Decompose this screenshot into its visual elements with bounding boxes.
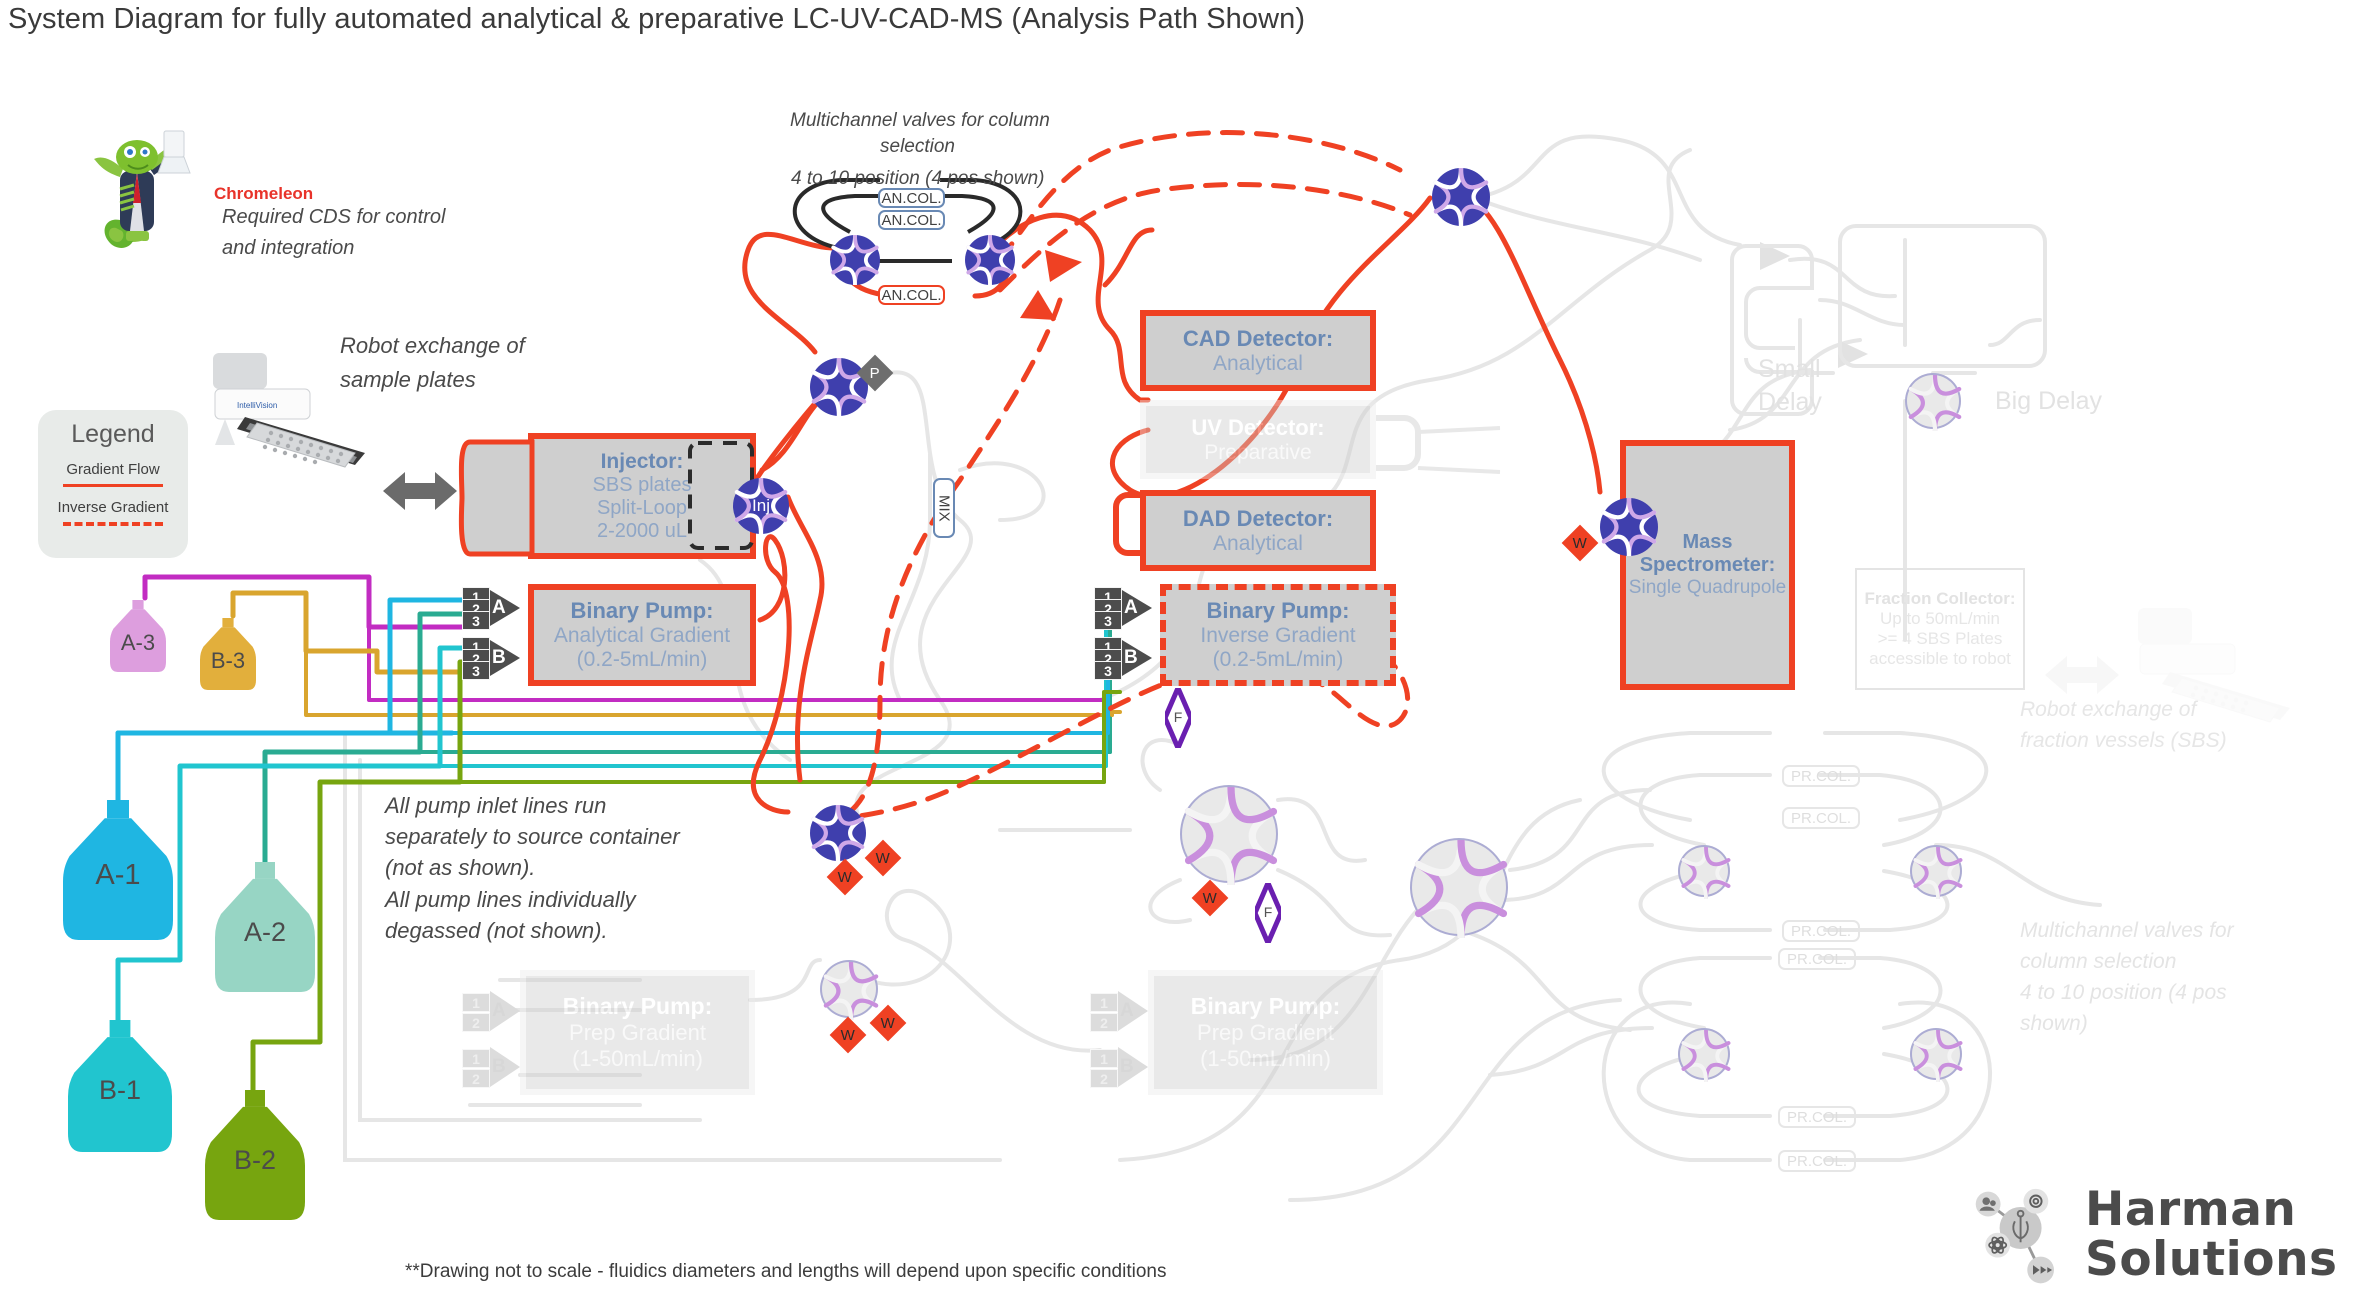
solvent-bottle-a-1: A-1 <box>63 800 173 940</box>
valve-ms-divert[interactable] <box>1432 168 1490 226</box>
small-delay-label-1: Small <box>1758 355 1821 384</box>
unit-fc-line2: >= 4 SBS Plates <box>1878 629 2003 649</box>
tag-label: P <box>870 364 880 381</box>
solvent-bottle-label: A-2 <box>215 917 315 948</box>
pump-lines-note: All pump inlet lines run separately to s… <box>385 790 680 946</box>
tag-label: W <box>1573 534 1587 551</box>
valve-prep-sel-1[interactable] <box>1180 785 1278 883</box>
solvent-bottle-a-3: A-3 <box>110 600 166 672</box>
tag-label: W <box>1203 889 1217 906</box>
robot-fraction-note-line1: Robot exchange of <box>2020 695 2196 725</box>
tag-label: W <box>881 1014 895 1031</box>
solvent-bottle-label: A-1 <box>63 859 173 892</box>
unit-fc-title: Fraction Collector: <box>1864 589 2015 609</box>
solvent-bottle-label: B-1 <box>68 1075 172 1106</box>
valve-prep-col-a-r[interactable] <box>1910 845 1962 897</box>
valve-prep-col-b-r[interactable] <box>1910 1028 1962 1080</box>
solvent-bottle-b-1: B-1 <box>68 1020 172 1152</box>
svg-text:F: F <box>1264 904 1273 920</box>
valve-ms-inlet[interactable] <box>1600 498 1658 556</box>
valve-prep-col-b-l[interactable] <box>1678 1028 1730 1080</box>
mcv-prep-note-line3: 4 to 10 position (4 pos <box>2020 978 2227 1008</box>
valve-prep-mix-1[interactable] <box>820 960 878 1018</box>
prep-column-2: PR.COL. <box>1782 807 1860 829</box>
tag-label: W <box>876 849 890 866</box>
valve-injector[interactable]: Inj <box>733 478 789 534</box>
valve-an-col-left[interactable] <box>830 235 880 285</box>
valve-prep-col-a-l[interactable] <box>1678 845 1730 897</box>
solvent-bottle-b-3: B-3 <box>200 618 256 690</box>
company-logo: Harman Solutions <box>1965 1180 2355 1290</box>
solvent-bottle-label: B-2 <box>205 1145 305 1176</box>
prep-column-6: PR.COL. <box>1778 1150 1856 1172</box>
solvent-bottle-label: A-3 <box>110 630 166 656</box>
prep-column-3: PR.COL. <box>1782 920 1860 942</box>
svg-text:F: F <box>1174 709 1183 725</box>
valve-waste-lower[interactable] <box>810 805 866 861</box>
prep-column-5: PR.COL. <box>1778 1106 1856 1128</box>
footnote: **Drawing not to scale - fluidics diamet… <box>405 1261 1166 1283</box>
pump-lines-note-line1: All pump inlet lines run <box>385 790 680 821</box>
valve-an-col-right[interactable] <box>965 235 1015 285</box>
solvent-bottle-a-2: A-2 <box>215 862 315 992</box>
pump-lines-note-line5: degassed (not shown). <box>385 915 680 946</box>
robot-fraction-note-line2: fraction vessels (SBS) <box>2020 726 2227 756</box>
valve-purge[interactable] <box>810 358 868 416</box>
unit-fc-line3: accessible to robot <box>1869 649 2011 669</box>
robot-fraction-exchange-arrow <box>2045 650 2119 700</box>
valve-prep-sel-2[interactable] <box>1410 838 1508 936</box>
tag-label: W <box>838 868 852 885</box>
unit-fraction-collector: Fraction Collector: Up to 50mL/min >= 4 … <box>1855 568 2025 690</box>
big-delay-label: Big Delay <box>1995 387 2102 416</box>
tag-label: W <box>841 1026 855 1043</box>
mcv-prep-note-line1: Multichannel valves for <box>2020 916 2234 946</box>
mcv-prep-note-line2: column selection <box>2020 947 2176 977</box>
pump-lines-note-line4: All pump lines individually <box>385 884 680 915</box>
solvent-bottle-label: B-3 <box>200 648 256 674</box>
logo-line2: Solutions <box>2085 1232 2338 1287</box>
pump-lines-note-line3: (not as shown). <box>385 852 680 883</box>
logo-line1: Harman <box>2085 1182 2296 1237</box>
prep-column-1: PR.COL. <box>1782 765 1860 787</box>
unit-fc-line1: Up to 50mL/min <box>1880 609 2000 629</box>
pump-lines-note-line2: separately to source container <box>385 821 680 852</box>
small-delay-label-2: Delay <box>1758 388 1822 417</box>
valve-label: Inj <box>733 496 789 516</box>
mcv-prep-note-line4: shown) <box>2020 1009 2088 1039</box>
prep-column-4: PR.COL. <box>1778 948 1856 970</box>
solvent-bottle-b-2: B-2 <box>205 1090 305 1220</box>
valve-delay-select[interactable] <box>1905 373 1961 429</box>
